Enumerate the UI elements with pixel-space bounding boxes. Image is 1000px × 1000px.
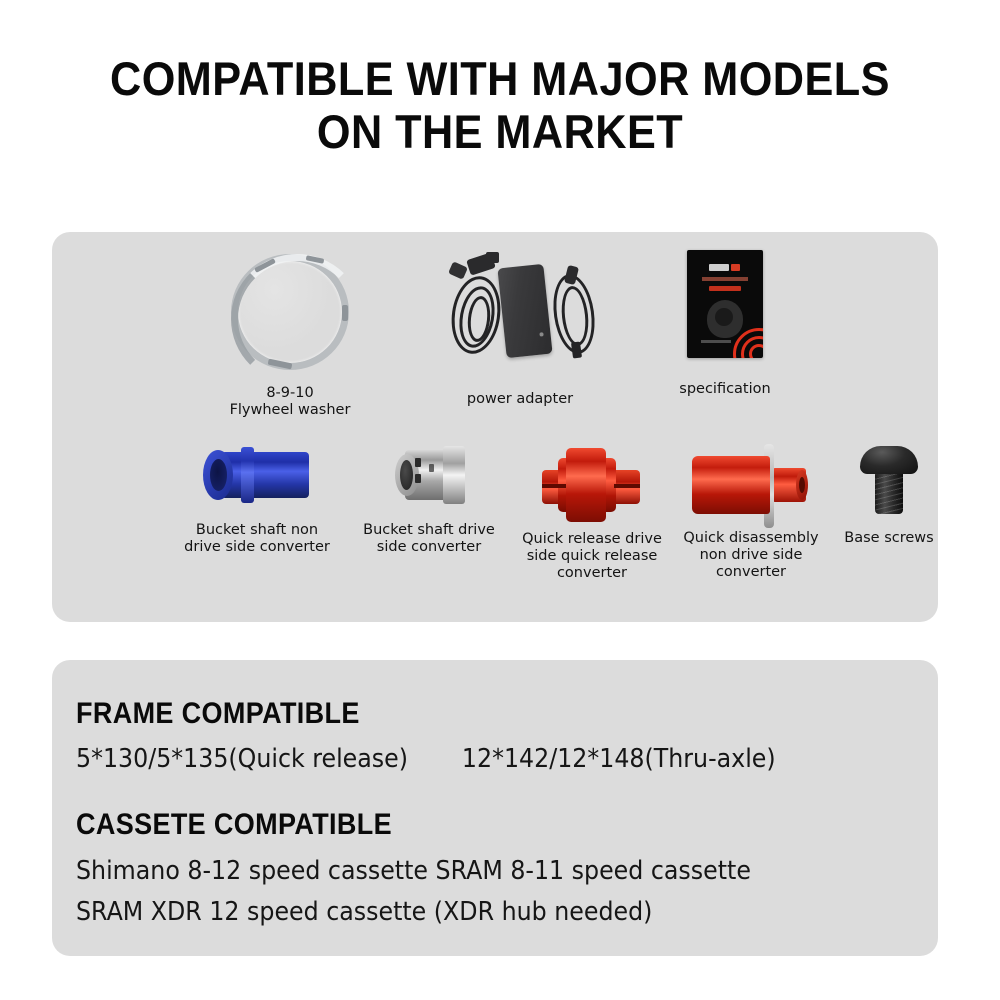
part-caption: 8-9-10 Flywheel washer	[165, 385, 415, 419]
cassette-line-2: SRAM XDR 12 speed cassette (XDR hub need…	[76, 897, 652, 927]
red-converter-icon	[540, 444, 644, 526]
frame-compatible-heading: FRAME COMPATIBLE	[76, 697, 360, 731]
flywheel-washer-ring-icon	[225, 254, 355, 379]
part-caption: power adapter	[415, 391, 625, 408]
part-flywheel-washer: 8-9-10 Flywheel washer	[165, 250, 415, 419]
cassette-compatible-heading: CASSETE COMPATIBLE	[76, 808, 392, 842]
part-power-adapter: power adapter	[415, 250, 625, 419]
page-title-line-2: ON THE MARKET	[86, 105, 914, 158]
silver-converter-icon	[387, 444, 471, 508]
power-adapter-icon	[430, 250, 610, 368]
parts-row-top: 8-9-10 Flywheel washer power adapter	[52, 250, 938, 419]
frame-quick-release-value: 5*130/5*135(Quick release)	[76, 744, 408, 774]
part-caption: Base screws	[794, 530, 984, 547]
compatibility-panel: FRAME COMPATIBLE 5*130/5*135(Quick relea…	[52, 660, 938, 956]
page-title-line-1: COMPATIBLE WITH MAJOR MODELS	[86, 52, 914, 105]
red-barrel-converter-icon	[692, 444, 810, 528]
frame-compatible-values: 5*130/5*135(Quick release)12*142/12*148(…	[76, 744, 776, 774]
part-base-screws: Base screws	[794, 444, 984, 547]
frame-thru-axle-value: 12*142/12*148(Thru-axle)	[462, 744, 776, 774]
part-specification-manual: specification	[625, 250, 825, 419]
black-screw-icon	[858, 444, 920, 516]
cassette-line-1: Shimano 8-12 speed cassette SRAM 8-11 sp…	[76, 856, 751, 886]
page-title: COMPATIBLE WITH MAJOR MODELS ON THE MARK…	[86, 52, 914, 158]
blue-converter-icon	[197, 444, 317, 508]
specification-booklet-icon	[687, 250, 763, 358]
part-caption: specification	[625, 381, 825, 398]
product-infographic-page: COMPATIBLE WITH MAJOR MODELS ON THE MARK…	[0, 0, 1000, 1000]
parts-panel: 8-9-10 Flywheel washer power adapter	[52, 232, 938, 622]
